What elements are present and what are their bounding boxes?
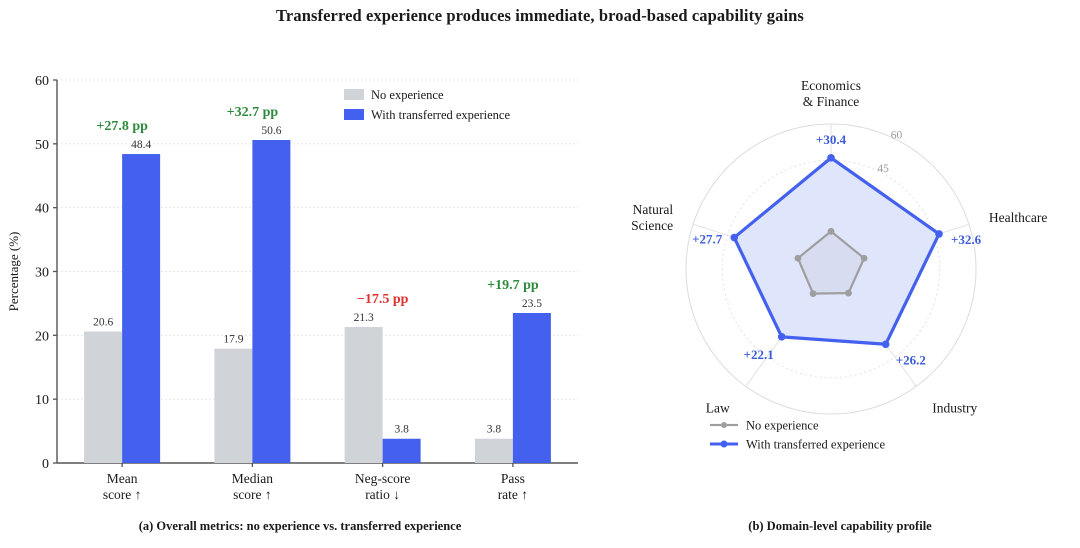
- x-tick-label: ratio ↓: [365, 487, 400, 500]
- bar-value-label: 50.6: [261, 125, 281, 137]
- radar-data-point: [827, 154, 835, 162]
- y-tick-label: 30: [35, 266, 49, 281]
- x-tick-label: Pass: [501, 471, 525, 486]
- bar-no-experience: [345, 327, 383, 463]
- bar-value-label: 20.6: [93, 317, 113, 329]
- legend-label: No experience: [746, 419, 819, 433]
- bar-value-label: 3.8: [394, 424, 409, 436]
- x-tick-label: Mean: [107, 471, 138, 486]
- radar-delta-label: +32.6: [951, 232, 982, 247]
- x-tick-label: score ↑: [233, 487, 272, 500]
- bar-with-experience: [252, 140, 290, 463]
- radar-data-point: [882, 340, 890, 348]
- y-tick-label: 0: [42, 457, 49, 472]
- radar-category-label: Economics: [801, 78, 861, 93]
- y-tick-label: 20: [35, 329, 49, 344]
- legend-label: With transferred experience: [371, 108, 510, 122]
- radar-category-label: Healthcare: [989, 210, 1047, 225]
- radar-data-point: [795, 255, 802, 262]
- x-tick-label: Neg-score: [355, 471, 410, 486]
- bar-no-experience: [84, 332, 122, 463]
- radar-category-label: Law: [706, 400, 730, 415]
- radar-data-point: [845, 290, 852, 297]
- radar-delta-label: +30.4: [816, 132, 847, 147]
- x-tick-label: rate ↑: [498, 487, 528, 500]
- y-tick-label: 50: [35, 138, 49, 153]
- y-axis-label: Percentage (%): [6, 232, 21, 312]
- delta-annotation: −17.5 pp: [357, 292, 409, 307]
- legend-marker: [721, 441, 728, 448]
- bar-value-label: 48.4: [131, 139, 151, 151]
- radar-data-point: [828, 228, 835, 235]
- radar-delta-label: +27.7: [692, 232, 723, 247]
- bar-no-experience: [475, 439, 513, 463]
- radar-category-label: Natural: [633, 202, 674, 217]
- delta-annotation: +19.7 pp: [487, 278, 539, 293]
- delta-annotation: +27.8 pp: [96, 119, 148, 134]
- radar-data-point: [935, 230, 943, 238]
- radar-category-label: Science: [631, 218, 673, 233]
- legend-label: With transferred experience: [746, 438, 885, 452]
- radar-data-point: [730, 234, 738, 242]
- x-tick-label: Median: [232, 471, 273, 486]
- bar-with-experience: [383, 439, 421, 463]
- bar-chart-svg: 0102030405060Percentage (%)20.648.4+27.8…: [0, 0, 600, 500]
- caption-panel-a: (a) Overall metrics: no experience vs. t…: [0, 519, 600, 534]
- caption-panel-b: (b) Domain-level capability profile: [600, 519, 1080, 534]
- radar-data-point: [778, 333, 786, 341]
- y-tick-label: 10: [35, 393, 49, 408]
- radar-data-point: [861, 255, 868, 262]
- bar-with-experience: [122, 154, 160, 463]
- radar-delta-label: +22.1: [744, 347, 774, 362]
- radar-data-point: [810, 290, 817, 297]
- bar-value-label: 21.3: [354, 312, 374, 324]
- y-tick-label: 40: [35, 202, 49, 217]
- panel-b-radar-chart: 15304560Economics& FinanceHealthcareIndu…: [600, 0, 1080, 548]
- delta-annotation: +32.7 pp: [227, 105, 279, 120]
- bar-with-experience: [513, 313, 551, 463]
- x-tick-label: score ↑: [103, 487, 142, 500]
- legend-swatch: [344, 89, 364, 100]
- bar-value-label: 3.8: [487, 424, 502, 436]
- radar-tick-label: 45: [877, 163, 889, 175]
- figure-container: Transferred experience produces immediat…: [0, 0, 1080, 548]
- radar-chart-svg: 15304560Economics& FinanceHealthcareIndu…: [600, 0, 1080, 510]
- radar-category-label: Industry: [932, 400, 977, 415]
- y-tick-label: 60: [35, 74, 49, 89]
- bar-no-experience: [214, 349, 252, 463]
- legend-marker: [721, 422, 727, 428]
- bar-value-label: 23.5: [522, 298, 542, 310]
- radar-delta-label: +26.2: [896, 352, 926, 367]
- legend-swatch: [344, 109, 364, 120]
- legend-label: No experience: [371, 88, 444, 102]
- panel-a-bar-chart: 0102030405060Percentage (%)20.648.4+27.8…: [0, 0, 600, 548]
- radar-category-label: & Finance: [803, 94, 860, 109]
- radar-tick-label: 60: [891, 129, 903, 141]
- bar-value-label: 17.9: [223, 334, 243, 346]
